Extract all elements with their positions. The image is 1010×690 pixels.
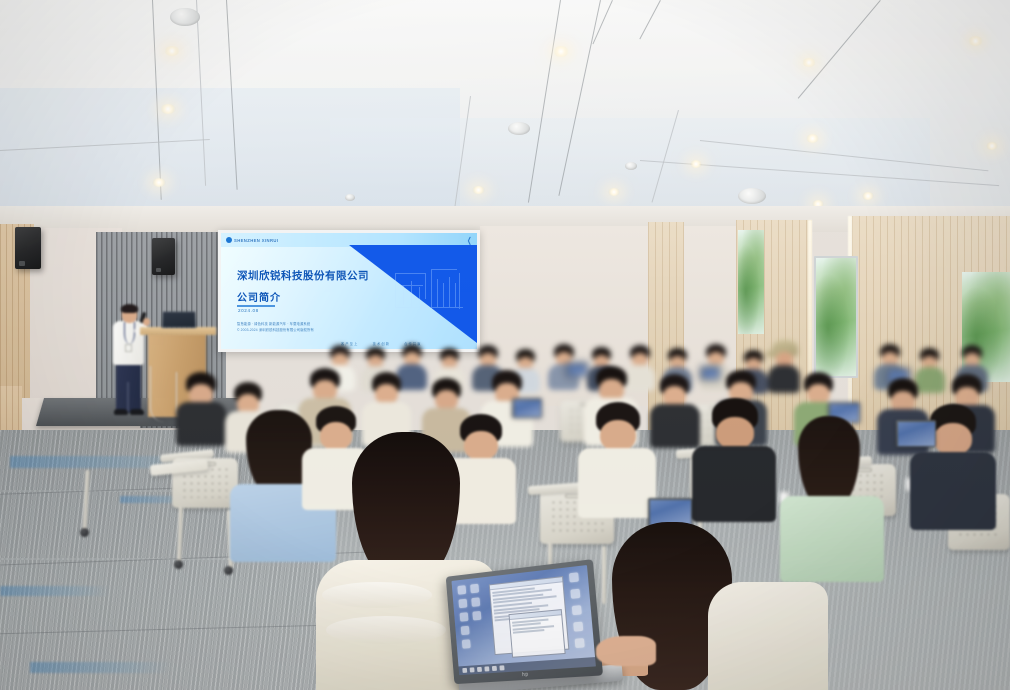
ceiling-speaker-icon (170, 8, 200, 26)
ceiling-speaker-icon (738, 188, 766, 204)
browser-icon[interactable] (484, 666, 489, 671)
secondary-dialog-window[interactable] (509, 609, 566, 658)
slide-subtitle: 公司简介 (237, 289, 281, 304)
slide-title: 深圳欣锐科技股份有限公司 (237, 268, 369, 283)
presenter-id-badge (125, 344, 132, 352)
company-logo-icon (226, 237, 232, 243)
laptop-brand-logo: hp (522, 672, 529, 678)
window-left (738, 230, 764, 334)
podium-laptop (162, 311, 197, 328)
slide-meta: 智慧能源 · 绿色科技 新能源汽车 · 车载电源系统 © 2003-2024 深… (237, 321, 314, 334)
smoke-detector-icon (345, 194, 355, 201)
search-icon[interactable] (470, 667, 475, 672)
long-hair (798, 416, 860, 508)
ceiling-speaker-icon (508, 122, 530, 135)
laptop-screen[interactable] (451, 565, 595, 675)
wall-speaker-center-left (152, 238, 175, 275)
mail-icon[interactable] (492, 666, 497, 671)
slide-date: 2024.08 (238, 308, 259, 313)
wall-speaker-left (15, 227, 41, 269)
app-icon[interactable] (499, 665, 504, 670)
slide-logo-text: SHENZHEN XINRUI (234, 238, 278, 243)
conference-room-photo: SHENZHEN XINRUI ❮ (0, 0, 1010, 690)
slide-meta-line-2: © 2003-2024 深圳欣锐科技股份有限公司版权所有 (237, 327, 314, 333)
angle-bracket-icon: ❮ (467, 236, 472, 245)
slide-footer-item: 技术创新 (373, 341, 391, 346)
ceiling (0, 0, 1010, 232)
podium-top-surface (140, 327, 216, 335)
laptop-lid: hp (446, 559, 603, 684)
presentation-slide: SHENZHEN XINRUI ❮ (221, 233, 477, 349)
start-icon[interactable] (462, 668, 467, 673)
foreground-laptop[interactable]: hp (445, 568, 597, 680)
folder-icon[interactable] (477, 667, 482, 672)
hand-on-laptop (596, 636, 656, 666)
smoke-detector-icon (625, 162, 637, 170)
slide-technical-artwork (389, 263, 471, 319)
slide-divider (237, 305, 275, 307)
projection-screen: SHENZHEN XINRUI ❮ (218, 230, 480, 352)
